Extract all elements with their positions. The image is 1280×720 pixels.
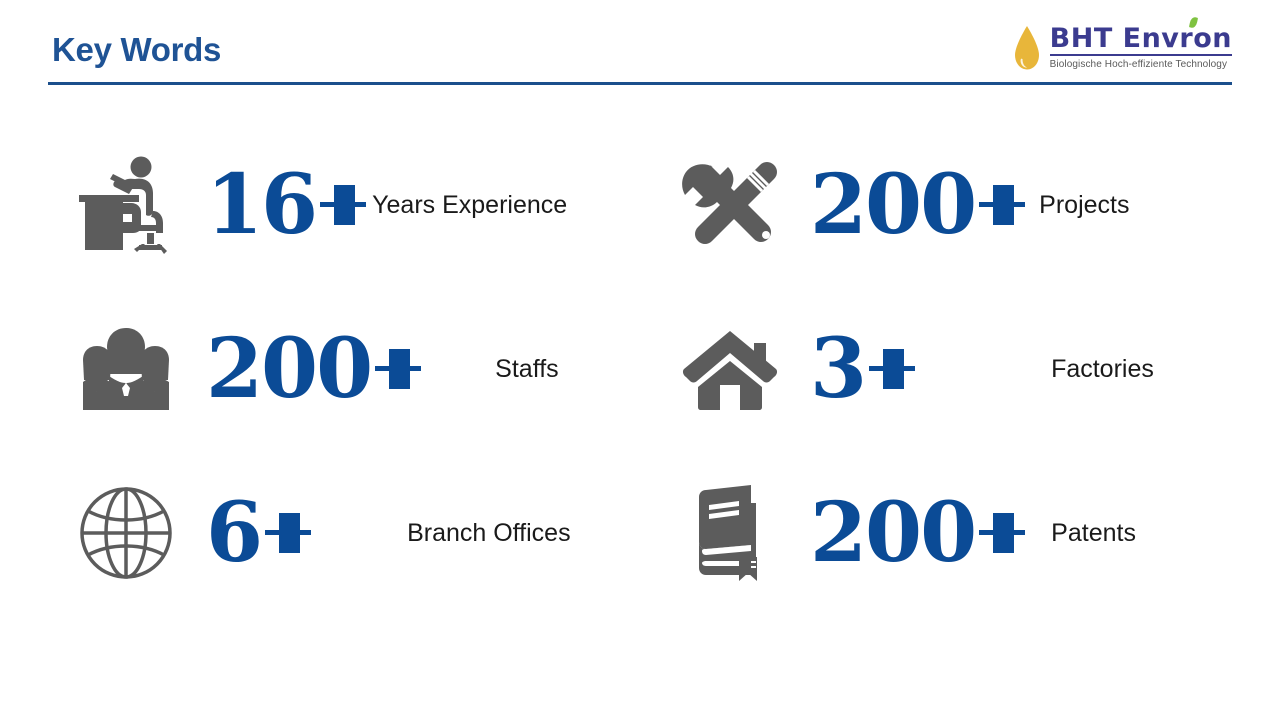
- stat-item-years-experience: 16 Years Experience: [72, 140, 652, 270]
- logo-tagline: Biologische Hoch-effiziente Technology: [1050, 59, 1227, 70]
- stat-number: 200: [810, 164, 975, 246]
- stat-number: 200: [810, 492, 975, 574]
- header-divider: [48, 82, 1232, 85]
- stat-item-patents: 200 Patents: [676, 468, 1236, 598]
- plus-icon: [265, 509, 311, 557]
- house-icon: [676, 317, 784, 421]
- stat-item-factories: 3 Factories: [676, 304, 1236, 434]
- stat-number: 3: [810, 328, 865, 410]
- slide-header: Key Words BHT Envron Biologische Hoch-ef…: [0, 0, 1280, 92]
- stat-item-staffs: 200 Staffs: [72, 304, 652, 434]
- stat-value-group: 6: [206, 492, 311, 574]
- stat-value-group: 3: [810, 328, 915, 410]
- stat-value-group: 16: [206, 164, 366, 246]
- stat-label: Years Experience: [372, 191, 567, 220]
- logo-underline: [1050, 54, 1232, 56]
- logo-brand-primary: BHT: [1050, 23, 1113, 54]
- wrench-screwdriver-icon: [676, 153, 784, 257]
- certificate-book-icon: [676, 481, 784, 585]
- plus-icon: [869, 345, 915, 393]
- stat-item-branch-offices: 6 Branch Offices: [72, 468, 652, 598]
- stat-label: Branch Offices: [407, 519, 571, 548]
- stat-label: Staffs: [495, 355, 558, 384]
- person-at-desk-icon: [72, 153, 180, 257]
- key-words-stats-grid: 16 Years Experience 200: [0, 118, 1280, 638]
- stat-label: Factories: [1051, 355, 1154, 384]
- stat-value-group: 200: [810, 492, 1025, 574]
- stat-number: 200: [206, 328, 371, 410]
- stat-value-group: 200: [810, 164, 1025, 246]
- stat-number: 16: [206, 164, 316, 246]
- water-drop-icon: [1014, 26, 1040, 70]
- plus-icon: [979, 181, 1025, 229]
- stat-label: Projects: [1039, 191, 1129, 220]
- plus-icon: [979, 509, 1025, 557]
- company-logo: BHT Envron Biologische Hoch-effiziente T…: [1014, 24, 1232, 76]
- globe-icon: [72, 481, 180, 585]
- stat-number: 6: [206, 492, 261, 574]
- plus-icon: [320, 181, 366, 229]
- plus-icon: [375, 345, 421, 393]
- stat-value-group: 200: [206, 328, 421, 410]
- logo-wordmark: BHT Envron: [1050, 24, 1232, 53]
- stat-label: Patents: [1051, 519, 1136, 548]
- logo-text-block: BHT Envron Biologische Hoch-effiziente T…: [1050, 24, 1232, 70]
- page-title: Key Words: [52, 30, 221, 70]
- logo-brand-secondary: Envron: [1123, 23, 1232, 54]
- stat-item-projects: 200 Projects: [676, 140, 1236, 270]
- people-group-icon: [72, 317, 180, 421]
